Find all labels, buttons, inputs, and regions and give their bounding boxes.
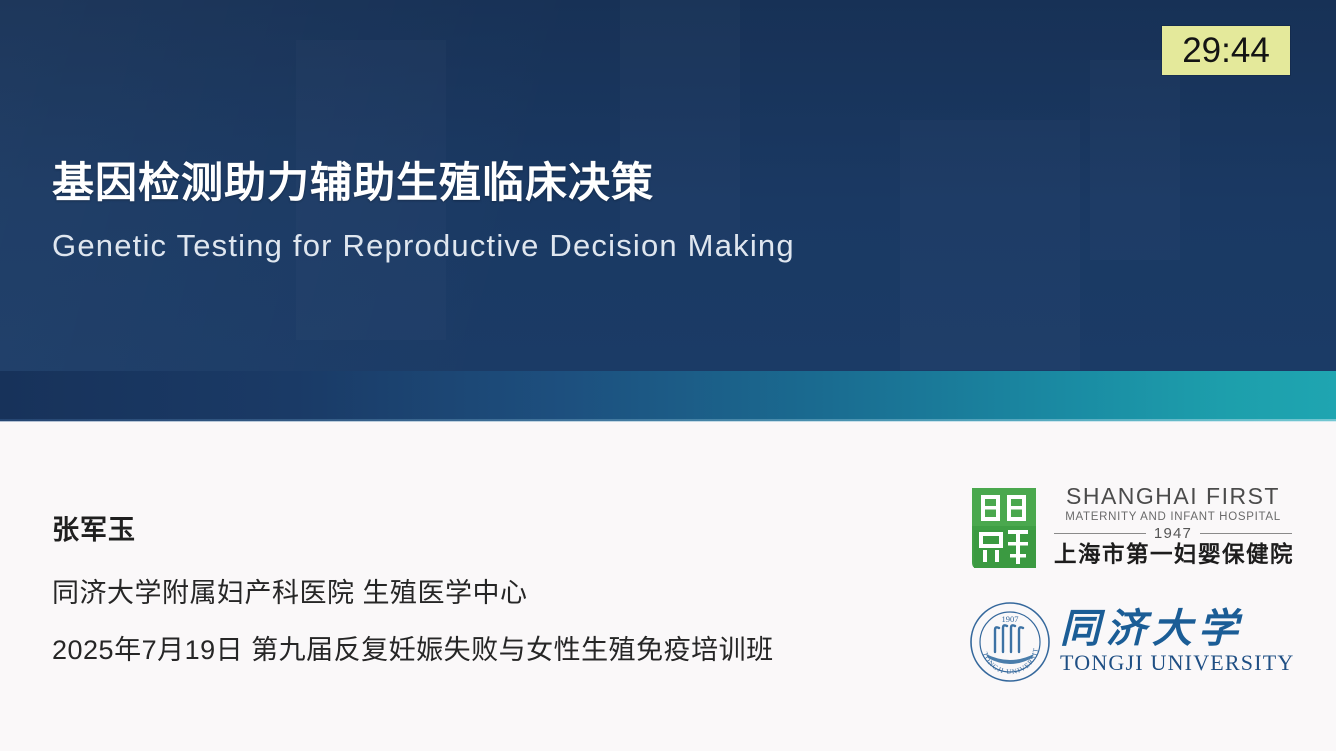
hero-texture-block xyxy=(1090,60,1180,260)
slide-subtitle-english: Genetic Testing for Reproductive Decisio… xyxy=(52,228,795,264)
university-seal-icon: 1907 TONGJI UNIVERSITY xyxy=(968,600,1052,684)
slide-title-chinese: 基因检测助力辅助生殖临床决策 xyxy=(52,149,654,210)
hospital-name-cn: 上海市第一妇婴保健院 xyxy=(1054,542,1292,568)
countdown-timer-value: 29:44 xyxy=(1182,33,1270,68)
hospital-name-en-line2: MATERNITY AND INFANT HOSPITAL xyxy=(1054,509,1292,525)
university-logo-text: 同济大学 TONGJI UNIVERSITY xyxy=(1060,608,1294,675)
hospital-founding-year-row: 1947 xyxy=(1054,526,1292,541)
event-info: 2025年7月19日 第九届反复妊娠失败与女性生殖免疫培训班 xyxy=(52,628,774,667)
hero-texture-block xyxy=(900,120,1080,370)
accent-band-highlight xyxy=(0,419,1336,422)
hospital-logo: SHANGHAI FIRST MATERNITY AND INFANT HOSP… xyxy=(966,477,1296,575)
countdown-timer: 29:44 xyxy=(1162,26,1290,75)
speaker-affiliation: 同济大学附属妇产科医院 生殖医学中心 xyxy=(52,571,528,610)
rule-left xyxy=(1054,533,1146,534)
university-logo: 1907 TONGJI UNIVERSITY 同济大学 TONGJI UNIVE… xyxy=(968,598,1298,686)
hero-texture-block xyxy=(620,0,740,250)
svg-text:1907: 1907 xyxy=(1002,614,1019,624)
hospital-name-en-line1: SHANGHAI FIRST xyxy=(1054,484,1292,508)
speaker-name: 张军玉 xyxy=(52,508,136,547)
university-name-en: TONGJI UNIVERSITY xyxy=(1060,651,1294,675)
university-name-cn: 同济大学 xyxy=(1060,608,1294,650)
hospital-logo-text: SHANGHAI FIRST MATERNITY AND INFANT HOSP… xyxy=(1054,484,1292,567)
rule-right xyxy=(1200,533,1292,534)
accent-gradient-band xyxy=(0,371,1336,421)
presentation-slide: 29:44 基因检测助力辅助生殖临床决策 Genetic Testing for… xyxy=(0,0,1336,751)
hospital-seal-icon xyxy=(966,480,1042,572)
hospital-founding-year: 1947 xyxy=(1154,526,1192,541)
